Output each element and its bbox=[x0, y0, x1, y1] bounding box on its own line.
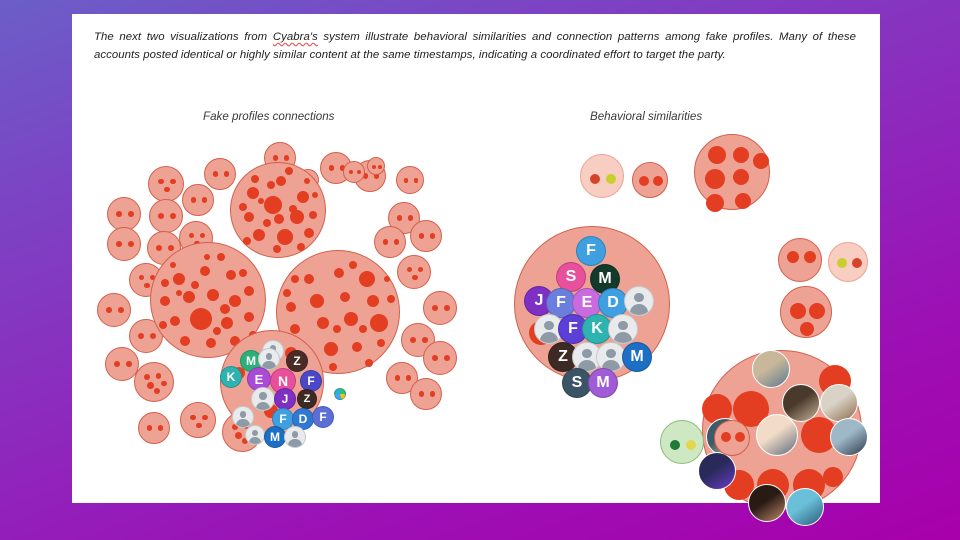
profile-dot[interactable] bbox=[226, 270, 236, 280]
anon-avatar-head bbox=[259, 392, 266, 399]
profile-dot[interactable] bbox=[244, 286, 254, 296]
profile-dot[interactable] bbox=[180, 336, 190, 346]
profile-dot[interactable] bbox=[258, 198, 264, 204]
profile-dot[interactable] bbox=[706, 194, 724, 212]
profile-dot[interactable] bbox=[686, 440, 696, 450]
profile-dot[interactable] bbox=[170, 179, 176, 185]
anon-avatar-body bbox=[256, 402, 271, 411]
profile-dot[interactable] bbox=[407, 267, 412, 272]
profile-photo-avatar[interactable] bbox=[756, 414, 798, 456]
profile-dot[interactable] bbox=[229, 295, 241, 307]
anon-avatar-head bbox=[634, 293, 644, 303]
fake-profiles-connections-viz: KMZENFJZFDFM bbox=[92, 132, 482, 502]
profile-dot[interactable] bbox=[164, 187, 169, 192]
profile-dot[interactable] bbox=[200, 266, 210, 276]
profile-dot[interactable] bbox=[147, 382, 154, 389]
anonymous-profile-avatar[interactable] bbox=[624, 286, 654, 316]
profile-dot[interactable] bbox=[349, 261, 357, 269]
profile-dot[interactable] bbox=[290, 324, 300, 334]
profile-dot[interactable] bbox=[168, 245, 174, 251]
small-profile-node[interactable] bbox=[396, 166, 424, 194]
profile-dot[interactable] bbox=[190, 308, 212, 330]
small-profile-node[interactable] bbox=[149, 199, 183, 233]
anon-avatar-head bbox=[618, 321, 628, 331]
small-profile-node[interactable] bbox=[397, 255, 431, 289]
profile-dot[interactable] bbox=[116, 211, 122, 217]
profile-dot[interactable] bbox=[823, 467, 843, 487]
profile-dot[interactable] bbox=[297, 243, 305, 251]
profile-dot[interactable] bbox=[304, 228, 314, 238]
profile-dot[interactable] bbox=[277, 229, 293, 245]
profile-avatar-m[interactable]: M bbox=[622, 342, 652, 372]
profile-dot[interactable] bbox=[359, 325, 367, 333]
behavioral-similarities-viz: FSMJFEDFKZMSM bbox=[492, 132, 880, 502]
profile-dot[interactable] bbox=[312, 192, 318, 198]
profile-dot[interactable] bbox=[202, 415, 208, 421]
small-profile-node[interactable] bbox=[107, 197, 141, 231]
profile-dot[interactable] bbox=[144, 283, 149, 288]
profile-dot[interactable] bbox=[432, 355, 438, 361]
small-profile-node[interactable] bbox=[182, 184, 214, 216]
profile-photo-avatar[interactable] bbox=[748, 484, 786, 522]
profile-dot[interactable] bbox=[220, 304, 230, 314]
profile-dot[interactable] bbox=[753, 153, 769, 169]
profile-dot[interactable] bbox=[126, 361, 132, 367]
small-profile-node[interactable] bbox=[180, 402, 216, 438]
anon-avatar-body bbox=[288, 439, 301, 447]
profile-cluster[interactable] bbox=[828, 242, 868, 282]
profile-dot[interactable] bbox=[324, 342, 338, 356]
small-profile-node[interactable] bbox=[410, 220, 442, 252]
profile-dot[interactable] bbox=[161, 381, 167, 387]
profile-dot[interactable] bbox=[837, 258, 847, 268]
profile-dot[interactable] bbox=[304, 274, 314, 284]
small-profile-node[interactable] bbox=[343, 161, 365, 183]
anonymous-profile-avatar[interactable] bbox=[245, 425, 265, 445]
profile-dot[interactable] bbox=[243, 237, 251, 245]
profile-dot[interactable] bbox=[283, 289, 291, 297]
profile-dot[interactable] bbox=[139, 275, 144, 280]
profile-dot[interactable] bbox=[253, 229, 265, 241]
profile-avatar-m[interactable]: M bbox=[588, 368, 618, 398]
profile-dot[interactable] bbox=[310, 294, 324, 308]
profile-dot[interactable] bbox=[247, 187, 259, 199]
profile-dot[interactable] bbox=[114, 361, 120, 367]
profile-dot[interactable] bbox=[285, 167, 293, 175]
profile-dot[interactable] bbox=[344, 312, 358, 326]
profile-dot[interactable] bbox=[852, 258, 862, 268]
profile-avatar-j[interactable]: J bbox=[274, 388, 296, 410]
profile-dot[interactable] bbox=[244, 212, 254, 222]
profile-dot[interactable] bbox=[735, 432, 745, 442]
profile-avatar-k[interactable]: K bbox=[220, 366, 242, 388]
left-panel-title: Fake profiles connections bbox=[203, 110, 334, 123]
profile-dot[interactable] bbox=[156, 245, 162, 251]
profile-dot[interactable] bbox=[333, 325, 341, 333]
profile-dot[interactable] bbox=[329, 363, 337, 371]
profile-dot[interactable] bbox=[170, 262, 176, 268]
profile-dot[interactable] bbox=[161, 279, 169, 287]
profile-dot[interactable] bbox=[444, 355, 450, 361]
profile-dot[interactable] bbox=[284, 155, 289, 160]
profile-dot[interactable] bbox=[158, 425, 163, 430]
profile-dot[interactable] bbox=[206, 338, 216, 348]
intro-highlight: Cyabra's bbox=[273, 31, 318, 43]
profile-dot[interactable] bbox=[128, 211, 134, 217]
profile-dot[interactable] bbox=[273, 245, 281, 253]
anon-avatar-head bbox=[266, 353, 273, 360]
profile-cluster[interactable]: KMZENFJZFDFM bbox=[220, 330, 324, 434]
small-profile-node[interactable] bbox=[367, 157, 385, 175]
profile-cluster[interactable] bbox=[660, 420, 704, 464]
profile-dot[interactable] bbox=[128, 241, 134, 247]
profile-dot[interactable] bbox=[422, 337, 428, 343]
profile-dot[interactable] bbox=[733, 147, 749, 163]
intro-before: The next two visualizations from bbox=[94, 31, 273, 43]
profile-dot[interactable] bbox=[156, 373, 162, 379]
profile-cluster[interactable] bbox=[230, 162, 326, 258]
profile-dot[interactable] bbox=[735, 193, 751, 209]
slide-root: The next two visualizations from Cyabra'… bbox=[0, 0, 960, 540]
profile-dot[interactable] bbox=[408, 215, 413, 220]
profile-dot[interactable] bbox=[367, 295, 379, 307]
profile-dot[interactable] bbox=[159, 321, 167, 329]
highlighted-profile-avatar[interactable] bbox=[334, 388, 346, 400]
profile-dot[interactable] bbox=[147, 425, 152, 430]
profile-dot[interactable] bbox=[202, 197, 207, 202]
profile-dot[interactable] bbox=[394, 239, 399, 244]
profile-dot[interactable] bbox=[239, 269, 247, 277]
profile-avatar-f[interactable]: F bbox=[312, 406, 334, 428]
profile-dot[interactable] bbox=[189, 233, 194, 238]
profile-dot[interactable] bbox=[170, 316, 180, 326]
profile-dot[interactable] bbox=[329, 165, 334, 170]
profile-dot[interactable] bbox=[357, 170, 361, 174]
profile-dot[interactable] bbox=[383, 239, 388, 244]
profile-dot[interactable] bbox=[160, 296, 170, 306]
profile-dot[interactable] bbox=[397, 215, 402, 220]
anon-avatar-body bbox=[236, 419, 249, 427]
profile-dot[interactable] bbox=[170, 213, 176, 219]
profile-dot[interactable] bbox=[430, 233, 435, 238]
profile-dot[interactable] bbox=[432, 305, 438, 311]
profile-dot[interactable] bbox=[340, 292, 350, 302]
profile-dot[interactable] bbox=[213, 327, 221, 335]
profile-dot[interactable] bbox=[377, 339, 385, 347]
profile-dot[interactable] bbox=[809, 303, 825, 319]
anon-avatar-head bbox=[544, 321, 554, 331]
profile-dot[interactable] bbox=[244, 312, 254, 322]
profile-avatar-f[interactable]: F bbox=[576, 236, 606, 266]
profile-dot[interactable] bbox=[200, 233, 205, 238]
profile-dot[interactable] bbox=[235, 432, 242, 439]
profile-dot[interactable] bbox=[370, 314, 388, 332]
profile-dot[interactable] bbox=[384, 276, 390, 282]
anon-avatar-body bbox=[540, 332, 558, 343]
profile-dot[interactable] bbox=[334, 268, 344, 278]
profile-dot[interactable] bbox=[176, 290, 182, 296]
profile-dot[interactable] bbox=[412, 275, 417, 280]
profile-photo-avatar[interactable] bbox=[820, 384, 858, 422]
small-profile-node[interactable] bbox=[204, 158, 236, 190]
profile-dot[interactable] bbox=[154, 388, 160, 394]
profile-dot[interactable] bbox=[705, 169, 725, 189]
profile-dot[interactable] bbox=[378, 165, 382, 169]
profile-cluster[interactable] bbox=[694, 134, 770, 210]
profile-cluster[interactable]: FSMJFEDFKZMSM bbox=[514, 226, 670, 382]
anon-avatar-head bbox=[582, 349, 592, 359]
profile-photo-avatar[interactable] bbox=[830, 418, 868, 456]
anon-avatar-head bbox=[240, 411, 247, 418]
profile-photo-avatar[interactable] bbox=[752, 350, 790, 388]
profile-dot[interactable] bbox=[404, 178, 409, 183]
profile-dot[interactable] bbox=[297, 191, 309, 203]
small-profile-node[interactable] bbox=[97, 293, 131, 327]
profile-dot[interactable] bbox=[158, 213, 164, 219]
profile-cluster[interactable] bbox=[714, 420, 750, 456]
profile-dot[interactable] bbox=[606, 174, 616, 184]
anon-avatar-body bbox=[249, 437, 261, 444]
small-profile-node[interactable] bbox=[410, 378, 442, 410]
profile-dot[interactable] bbox=[670, 440, 680, 450]
profile-dot[interactable] bbox=[419, 233, 424, 238]
profile-dot[interactable] bbox=[106, 307, 112, 313]
small-profile-node[interactable] bbox=[423, 291, 457, 325]
profile-dot[interactable] bbox=[790, 303, 806, 319]
profile-dot[interactable] bbox=[800, 322, 814, 336]
profile-dot[interactable] bbox=[639, 176, 649, 186]
profile-dot[interactable] bbox=[263, 219, 271, 227]
profile-dot[interactable] bbox=[239, 203, 247, 211]
profile-cluster[interactable] bbox=[580, 154, 624, 198]
anonymous-profile-avatar[interactable] bbox=[608, 314, 638, 344]
profile-dot[interactable] bbox=[291, 275, 299, 283]
small-profile-node[interactable] bbox=[134, 362, 174, 402]
profile-dot[interactable] bbox=[653, 176, 663, 186]
profile-dot[interactable] bbox=[304, 178, 310, 184]
profile-dot[interactable] bbox=[418, 267, 423, 272]
profile-dot[interactable] bbox=[183, 291, 195, 303]
profile-dot[interactable] bbox=[204, 254, 210, 260]
profile-dot[interactable] bbox=[359, 271, 375, 287]
profile-dot[interactable] bbox=[733, 169, 749, 185]
intro-paragraph: The next two visualizations from Cyabra'… bbox=[94, 28, 856, 64]
profile-dot[interactable] bbox=[190, 415, 196, 421]
profile-dot[interactable] bbox=[289, 205, 297, 213]
profile-dot[interactable] bbox=[444, 305, 450, 311]
profile-dot[interactable] bbox=[224, 171, 229, 176]
anon-avatar-body bbox=[630, 304, 648, 315]
anonymous-profile-avatar[interactable] bbox=[251, 387, 275, 411]
profile-dot[interactable] bbox=[138, 333, 144, 339]
profile-photo-avatar[interactable] bbox=[786, 488, 824, 526]
small-profile-node[interactable] bbox=[423, 341, 457, 375]
profile-dot[interactable] bbox=[365, 359, 373, 367]
profile-dot[interactable] bbox=[116, 241, 122, 247]
small-profile-node[interactable] bbox=[138, 412, 170, 444]
profile-dot[interactable] bbox=[213, 171, 218, 176]
profile-dot[interactable] bbox=[150, 333, 156, 339]
profile-avatar-z[interactable]: Z bbox=[297, 389, 317, 409]
profile-dot[interactable] bbox=[173, 273, 185, 285]
anon-avatar-head bbox=[292, 431, 299, 438]
profile-dot[interactable] bbox=[414, 178, 419, 183]
profile-dot[interactable] bbox=[721, 432, 731, 442]
profile-dot[interactable] bbox=[207, 289, 219, 301]
content-card: The next two visualizations from Cyabra'… bbox=[72, 14, 880, 503]
profile-dot[interactable] bbox=[787, 251, 799, 263]
profile-dot[interactable] bbox=[387, 295, 395, 303]
small-profile-node[interactable] bbox=[374, 226, 406, 258]
profile-dot[interactable] bbox=[276, 176, 286, 186]
anon-avatar-head bbox=[252, 430, 258, 436]
profile-dot[interactable] bbox=[372, 165, 376, 169]
profile-dot[interactable] bbox=[708, 146, 726, 164]
profile-dot[interactable] bbox=[317, 317, 329, 329]
profile-dot[interactable] bbox=[406, 375, 411, 380]
profile-cluster[interactable] bbox=[778, 238, 822, 282]
profile-dot[interactable] bbox=[144, 374, 150, 380]
profile-dot[interactable] bbox=[217, 253, 225, 261]
profile-dot[interactable] bbox=[286, 302, 296, 312]
profile-dot[interactable] bbox=[804, 251, 816, 263]
profile-dot[interactable] bbox=[196, 423, 201, 428]
profile-dot[interactable] bbox=[419, 391, 424, 396]
profile-dot[interactable] bbox=[273, 155, 278, 160]
right-panel-title: Behavioral similarities bbox=[590, 110, 702, 123]
anon-avatar-body bbox=[614, 332, 632, 343]
profile-avatar-m[interactable]: M bbox=[264, 426, 286, 448]
profile-dot[interactable] bbox=[274, 214, 284, 224]
profile-dot[interactable] bbox=[410, 337, 416, 343]
profile-dot[interactable] bbox=[191, 281, 199, 289]
profile-dot[interactable] bbox=[430, 391, 435, 396]
small-profile-node[interactable] bbox=[148, 166, 184, 202]
anonymous-profile-avatar[interactable] bbox=[284, 426, 306, 448]
profile-dot[interactable] bbox=[349, 170, 353, 174]
profile-dot[interactable] bbox=[395, 375, 400, 380]
profile-cluster[interactable] bbox=[780, 286, 832, 338]
profile-dot[interactable] bbox=[267, 181, 275, 189]
small-profile-node[interactable] bbox=[107, 227, 141, 261]
profile-dot[interactable] bbox=[309, 211, 317, 219]
profile-dot[interactable] bbox=[264, 196, 282, 214]
profile-dot[interactable] bbox=[352, 342, 362, 352]
profile-dot[interactable] bbox=[118, 307, 124, 313]
profile-dot[interactable] bbox=[158, 179, 164, 185]
profile-dot[interactable] bbox=[191, 197, 196, 202]
profile-cluster[interactable] bbox=[632, 162, 668, 198]
profile-dot[interactable] bbox=[221, 317, 233, 329]
anon-avatar-head bbox=[606, 349, 616, 359]
profile-dot[interactable] bbox=[251, 175, 259, 183]
profile-dot[interactable] bbox=[590, 174, 600, 184]
profile-photo-avatar[interactable] bbox=[698, 452, 736, 490]
